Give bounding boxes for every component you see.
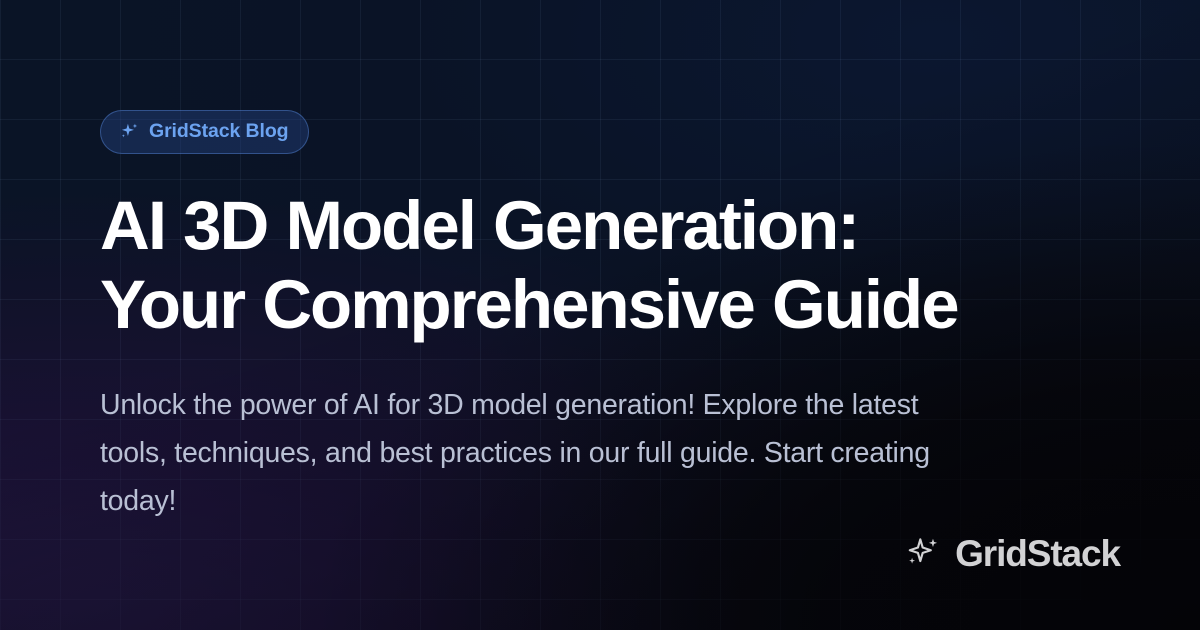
brand-name: GridStack: [955, 535, 1120, 572]
page-title-line-2: Your Comprehensive Guide: [100, 266, 958, 343]
sparkle-icon: [904, 534, 942, 572]
blog-badge-label: GridStack Blog: [149, 122, 288, 142]
card-content: GridStack Blog AI 3D Model Generation:Yo…: [100, 0, 1120, 630]
sparkle-icon: [119, 121, 140, 142]
page-subtitle: Unlock the power of AI for 3D model gene…: [100, 381, 985, 525]
page-title: AI 3D Model Generation:Your Comprehensiv…: [100, 186, 1100, 344]
brand-logo: GridStack: [904, 535, 1120, 572]
og-card: GridStack Blog AI 3D Model Generation:Yo…: [0, 0, 1200, 630]
blog-badge[interactable]: GridStack Blog: [100, 110, 309, 154]
page-title-line-1: AI 3D Model Generation:: [100, 187, 858, 264]
